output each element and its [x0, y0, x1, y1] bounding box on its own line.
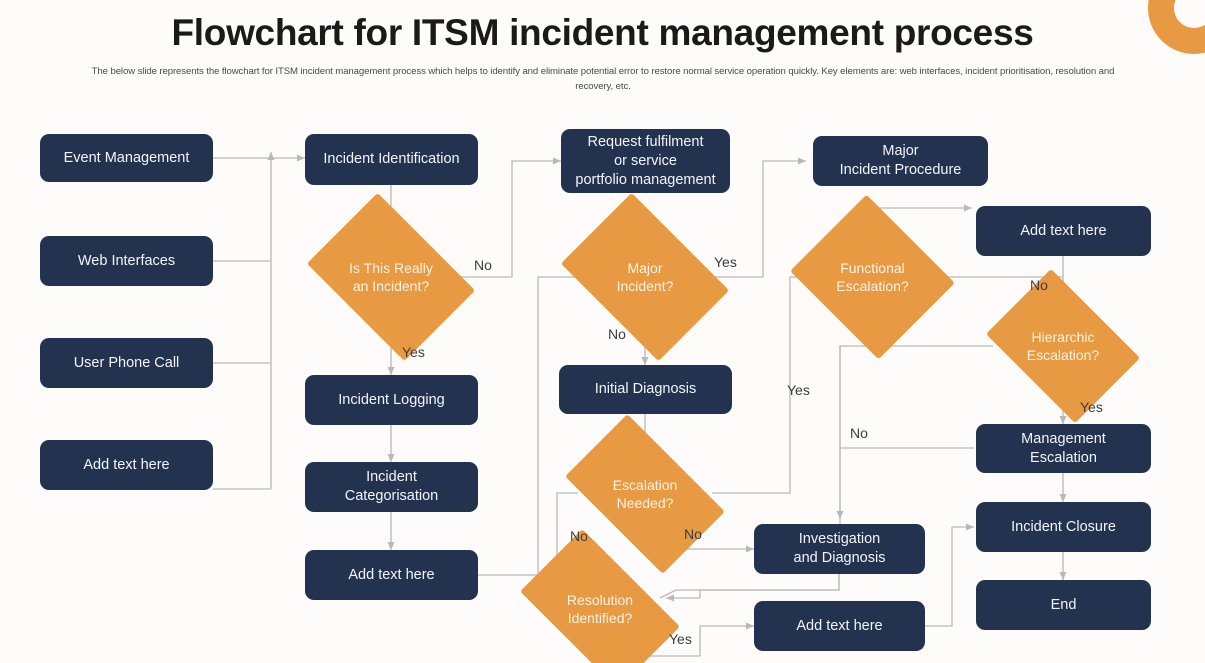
node-label-line2: Incident Procedure — [840, 161, 962, 180]
edge-label-functional-yes: Yes — [787, 382, 810, 398]
node-incident-logging[interactable]: Incident Logging — [305, 375, 478, 425]
node-label-line2: Escalation — [1021, 449, 1106, 468]
node-label: End — [1051, 596, 1077, 615]
node-label-line3: portfolio management — [575, 171, 715, 190]
flowchart-slide: Flowchart for ITSM incident management p… — [0, 0, 1205, 663]
node-label: Add text here — [1020, 222, 1106, 241]
node-label: Escalation Needed? — [613, 476, 678, 512]
node-label-line1: Major — [840, 142, 962, 161]
wire-addtext-bottom-to-closure — [925, 527, 974, 626]
node-management-escalation[interactable]: Management Escalation — [976, 424, 1151, 473]
node-label: Incident Logging — [338, 391, 444, 410]
node-end[interactable]: End — [976, 580, 1151, 630]
node-label: Add text here — [83, 456, 169, 475]
node-label-line2: or service — [575, 152, 715, 171]
node-label: Add text here — [796, 617, 882, 636]
node-investigation-and-diagnosis[interactable]: Investigation and Diagnosis — [754, 524, 925, 574]
edge-label-resolution-yes: Yes — [669, 631, 692, 647]
edge-label-incident-yes: Yes — [402, 344, 425, 360]
node-label-line2: Categorisation — [345, 487, 439, 506]
edge-label-hierarchic-no: No — [850, 425, 868, 441]
node-label: Major Incident Procedure — [840, 142, 962, 180]
node-label-line2: Identified? — [567, 609, 633, 627]
edge-label-major-yes: Yes — [714, 254, 737, 270]
wire-investigation-route — [700, 574, 839, 598]
node-event-management[interactable]: Event Management — [40, 134, 213, 182]
node-label: Incident Closure — [1011, 518, 1116, 537]
node-label-line1: Is This Really — [349, 259, 433, 277]
node-label: Is This Really an Incident? — [349, 259, 433, 295]
node-label: Functional Escalation? — [836, 259, 908, 295]
node-label: Investigation and Diagnosis — [794, 530, 886, 568]
node-label: Major Incident? — [617, 259, 674, 295]
node-label-line1: Escalation — [613, 476, 678, 494]
node-initial-diagnosis[interactable]: Initial Diagnosis — [559, 365, 732, 414]
node-add-text-here-left[interactable]: Add text here — [40, 440, 213, 490]
node-hierarchic-escalation[interactable]: Hierarchic Escalation? — [1000, 300, 1126, 392]
node-request-fulfilment[interactable]: Request fulfilment or service portfolio … — [561, 129, 730, 193]
node-label: Hierarchic Escalation? — [1027, 328, 1099, 364]
node-major-incident[interactable]: Major Incident? — [576, 227, 714, 327]
node-label-line1: Hierarchic — [1027, 328, 1099, 346]
node-label-line2: Escalation? — [836, 277, 908, 295]
node-label: Resolution Identified? — [567, 591, 633, 627]
edge-label-major-no: No — [608, 326, 626, 342]
node-major-incident-procedure[interactable]: Major Incident Procedure — [813, 136, 988, 186]
node-is-this-really-an-incident[interactable]: Is This Really an Incident? — [322, 227, 460, 327]
node-label: Management Escalation — [1021, 430, 1106, 468]
node-label: Event Management — [64, 149, 190, 168]
node-label-line1: Major — [617, 259, 674, 277]
node-add-text-here-col2[interactable]: Add text here — [305, 550, 478, 600]
node-label-line1: Incident — [345, 468, 439, 487]
node-incident-closure[interactable]: Incident Closure — [976, 502, 1151, 552]
node-resolution-identified[interactable]: Resolution Identified? — [531, 565, 669, 653]
node-label-line1: Request fulfilment — [575, 133, 715, 152]
node-incident-categorisation[interactable]: Incident Categorisation — [305, 462, 478, 512]
edge-label-escalation-no-right: No — [684, 526, 702, 542]
node-functional-escalation[interactable]: Functional Escalation? — [810, 223, 935, 331]
node-label: Incident Identification — [323, 150, 459, 169]
wire-investigation-to-resolution-seg — [660, 574, 839, 598]
node-web-interfaces[interactable]: Web Interfaces — [40, 236, 213, 286]
edge-label-hierarchic-yes: Yes — [1080, 399, 1103, 415]
node-label-line2: and Diagnosis — [794, 549, 886, 568]
node-label-line2: an Incident? — [349, 277, 433, 295]
node-add-text-here-right[interactable]: Add text here — [976, 206, 1151, 256]
node-incident-identification[interactable]: Incident Identification — [305, 134, 478, 185]
node-label: Incident Categorisation — [345, 468, 439, 506]
node-label: Initial Diagnosis — [595, 380, 697, 399]
edge-label-incident-no: No — [474, 257, 492, 273]
node-label-line2: Needed? — [613, 494, 678, 512]
node-add-text-here-bottom[interactable]: Add text here — [754, 601, 925, 651]
node-label-line1: Functional — [836, 259, 908, 277]
node-label-line2: Incident? — [617, 277, 674, 295]
node-label: Request fulfilment or service portfolio … — [575, 133, 715, 190]
node-label-line1: Management — [1021, 430, 1106, 449]
node-label-line1: Investigation — [794, 530, 886, 549]
node-label: Add text here — [348, 566, 434, 585]
node-user-phone-call[interactable]: User Phone Call — [40, 338, 213, 388]
node-label: Web Interfaces — [78, 252, 175, 271]
node-label-line2: Escalation? — [1027, 346, 1099, 364]
node-label: User Phone Call — [74, 354, 180, 373]
edge-label-escalation-no-left: No — [570, 528, 588, 544]
edge-label-functional-no: No — [1030, 277, 1048, 293]
node-label-line1: Resolution — [567, 591, 633, 609]
node-escalation-needed[interactable]: Escalation Needed? — [576, 450, 714, 538]
